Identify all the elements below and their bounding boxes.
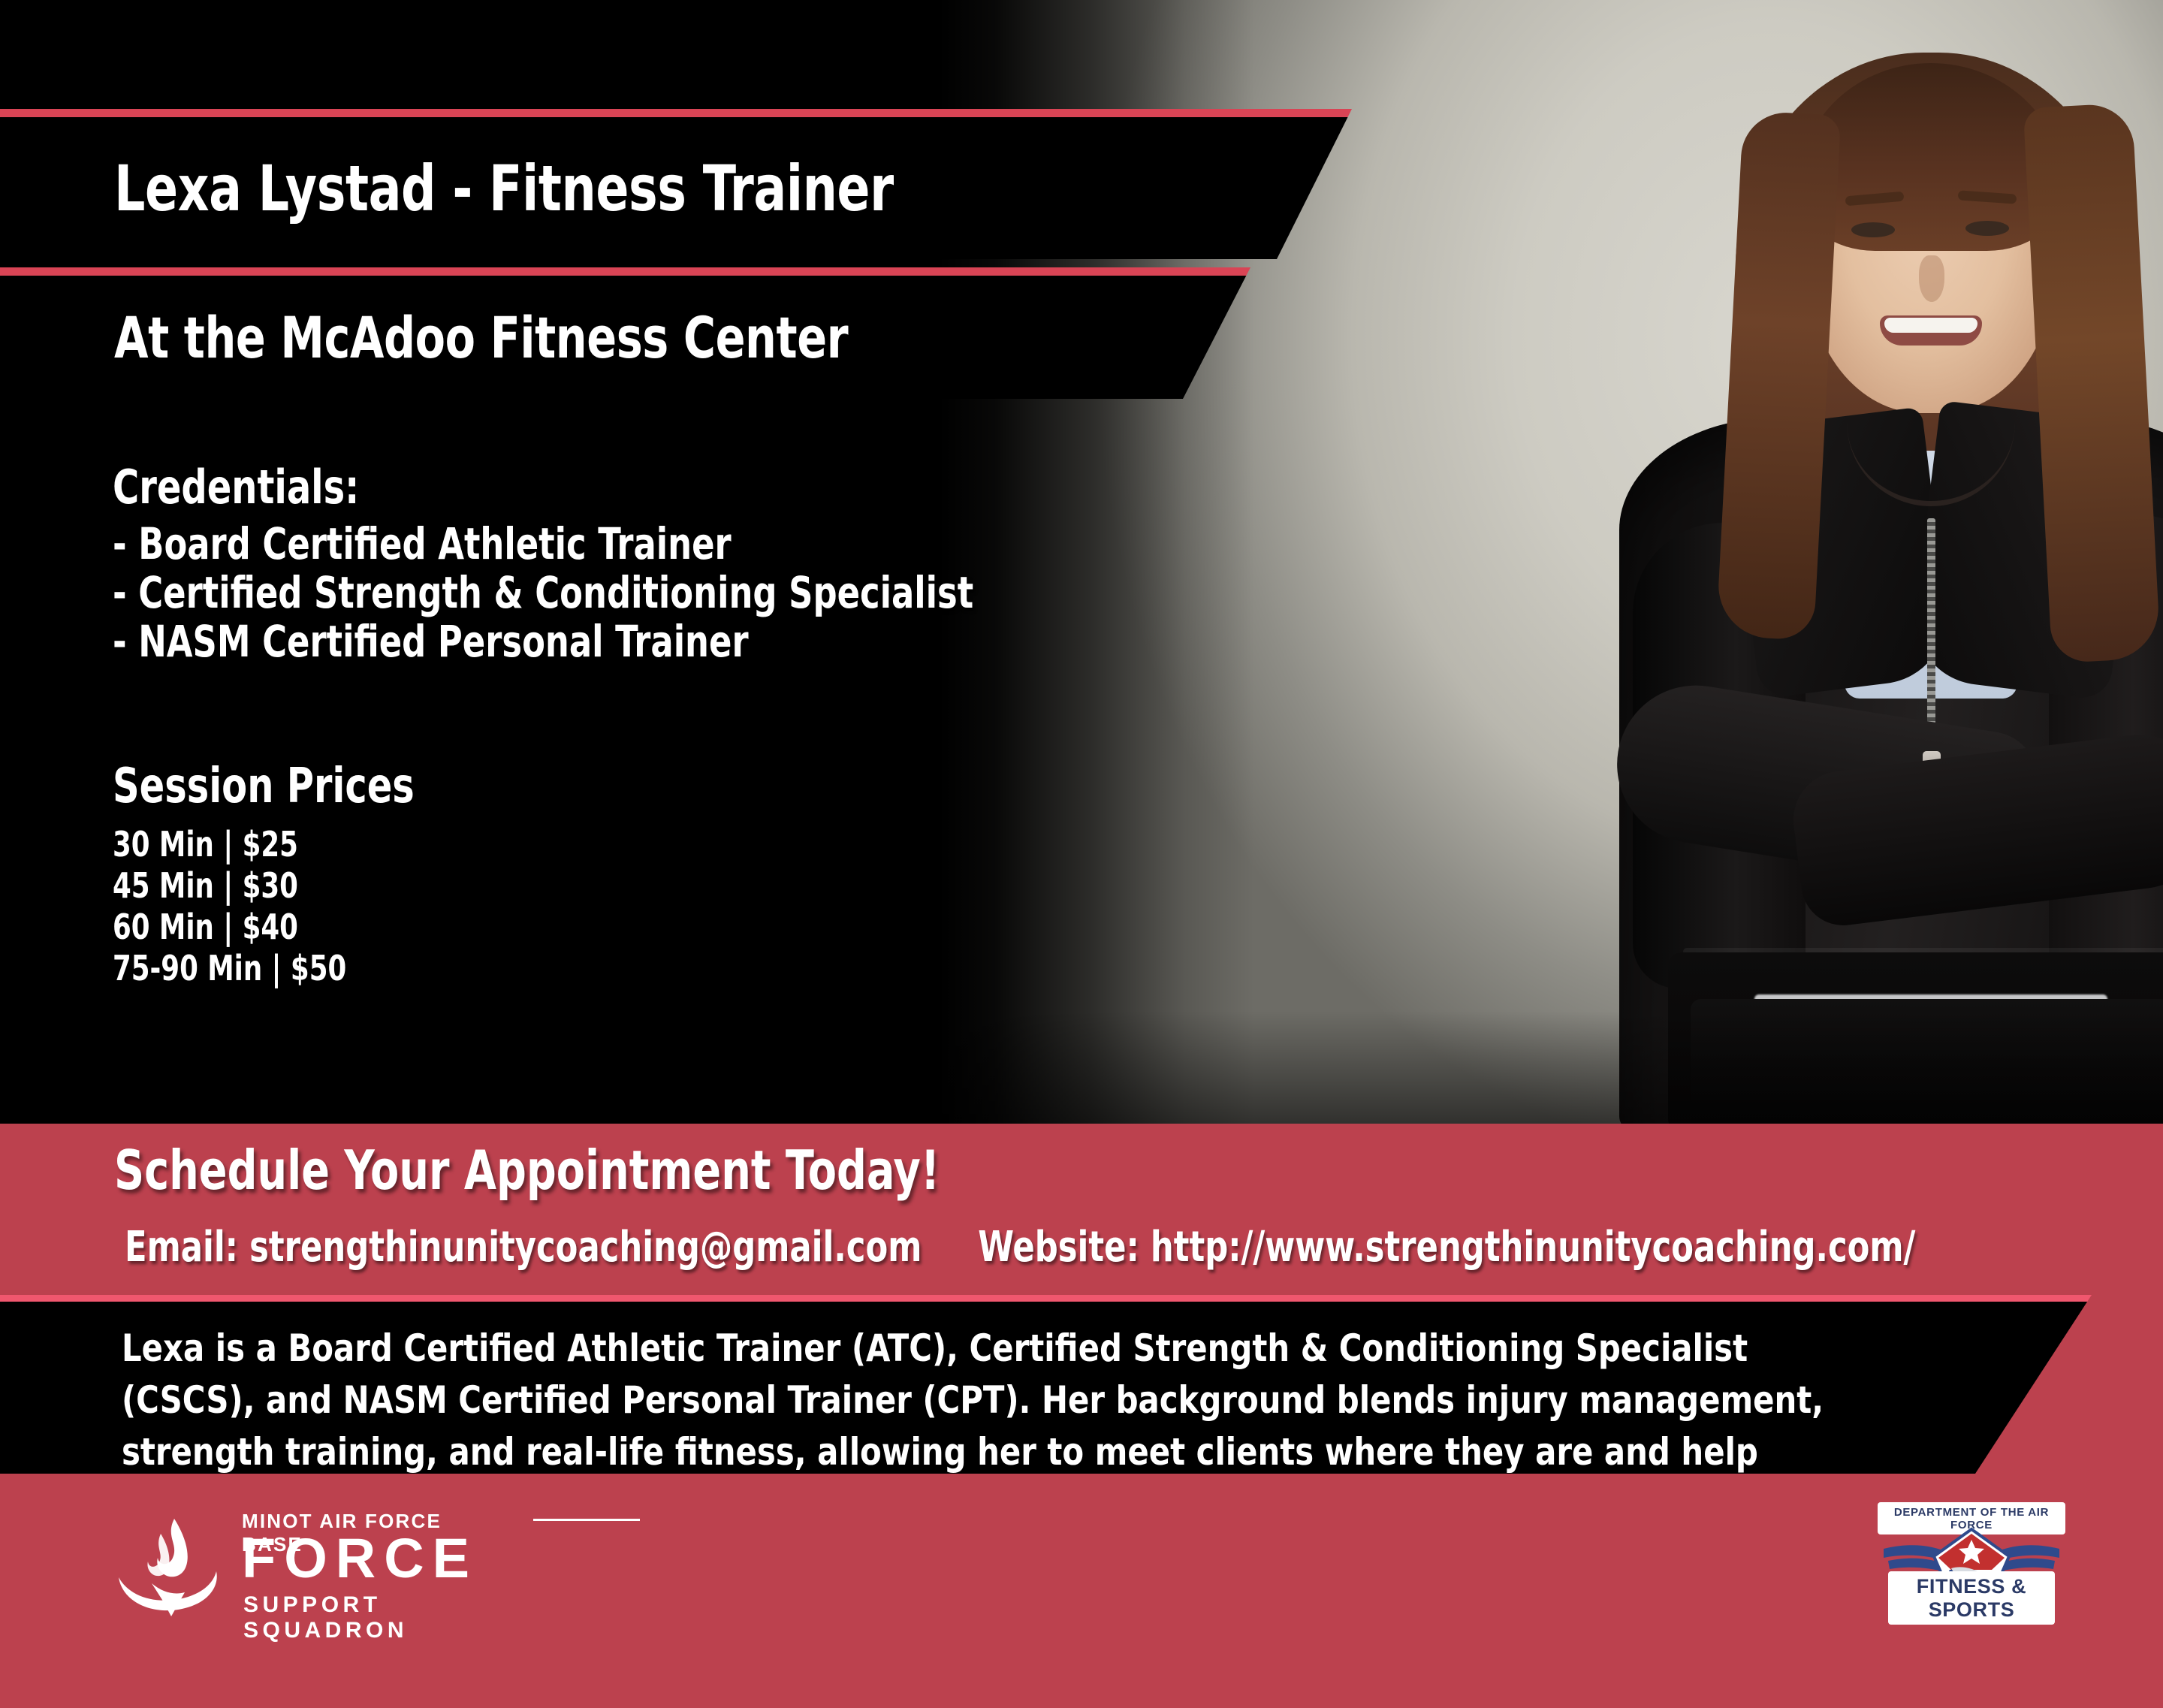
fss-rule: [533, 1519, 640, 1521]
credential-item: - NASM Certified Personal Trainer: [113, 617, 1121, 666]
fss-logo: MINOT AIR FORCE BASE FORCE SUPPORT SQUAD…: [113, 1502, 503, 1630]
air-force-fitness-badge: DEPARTMENT OF THE AIR FORCE FITNESS & SP…: [1878, 1502, 2065, 1626]
price-row: 60 Min | $40: [113, 907, 1121, 948]
contact-line: Email: strengthinunitycoaching@gmail.com…: [125, 1223, 1915, 1272]
page-title: Lexa Lystad - Fitness Trainer: [114, 152, 894, 225]
subtitle-banner: At the McAdoo Fitness Center: [0, 267, 1250, 399]
nose: [1919, 255, 1944, 302]
flame-swoosh-icon: [113, 1511, 225, 1624]
page-subtitle: At the McAdoo Fitness Center: [114, 304, 848, 371]
footer: MINOT AIR FORCE BASE FORCE SUPPORT SQUAD…: [0, 1474, 2163, 1708]
top-section: Lexa Lystad - Fitness Trainer At the McA…: [0, 0, 2163, 1124]
website-url[interactable]: http://www.strengthinunitycoaching.com/: [1151, 1223, 1915, 1272]
trainer-figure: [1518, 0, 2163, 1124]
price-row: 75-90 Min | $50: [113, 948, 1121, 989]
flyer-root: Lexa Lystad - Fitness Trainer At the McA…: [0, 0, 2163, 1708]
eye-left: [1851, 222, 1895, 237]
mouth-smiling: [1880, 315, 1982, 346]
bio-box: Lexa is a Board Certified Athletic Train…: [0, 1295, 2092, 1474]
credentials-heading: Credentials:: [113, 464, 1121, 511]
email-address[interactable]: strengthinunitycoaching@gmail.com: [249, 1223, 922, 1272]
prices-heading: Session Prices: [113, 762, 1121, 810]
credential-item: - Certified Strength & Conditioning Spec…: [113, 569, 1121, 617]
af-program-label: FITNESS & SPORTS: [1888, 1571, 2055, 1625]
teeth: [1884, 318, 1977, 333]
eye-right: [1965, 221, 2009, 236]
credential-item: - Board Certified Athletic Trainer: [113, 520, 1121, 569]
cta-band: Schedule Your Appointment Today! Email: …: [0, 1124, 2163, 1295]
info-column: Credentials: - Board Certified Athletic …: [113, 464, 1284, 990]
title-banner: Lexa Lystad - Fitness Trainer: [0, 109, 1352, 259]
fss-force-word: FORCE: [242, 1531, 478, 1586]
price-row: 30 Min | $25: [113, 824, 1121, 865]
fss-squadron-word: SUPPORT SQUADRON: [243, 1592, 503, 1643]
website-label: Website:: [978, 1223, 1139, 1272]
email-label: Email:: [125, 1223, 238, 1272]
cta-heading: Schedule Your Appointment Today!: [114, 1139, 940, 1202]
price-row: 45 Min | $30: [113, 865, 1121, 907]
photo-fade-bottom: [939, 1011, 2163, 1124]
